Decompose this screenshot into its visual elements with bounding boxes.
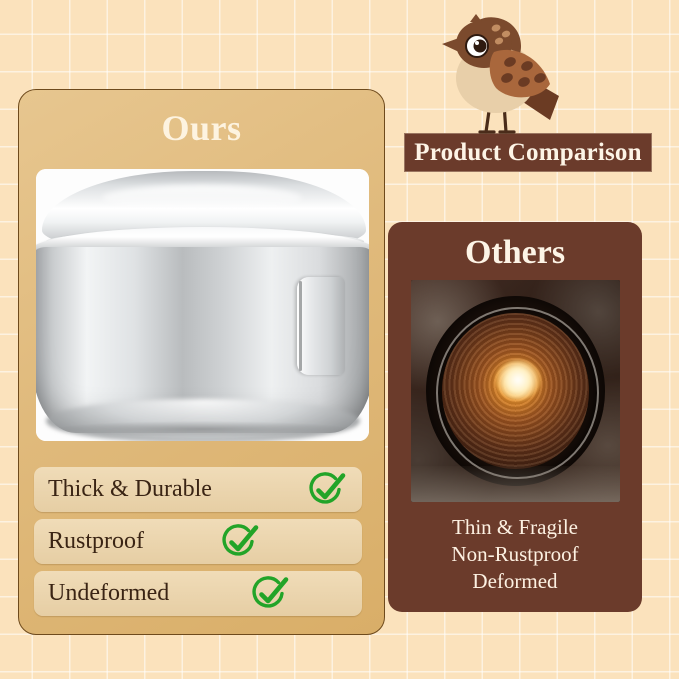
feature-label: Undeformed — [48, 579, 169, 606]
sparrow-bird-icon — [432, 8, 572, 138]
check-circle-icon — [250, 576, 290, 612]
feature-label: Thick & Durable — [48, 475, 212, 502]
others-drawback-list: Thin & Fragile Non-Rustproof Deformed — [388, 514, 642, 595]
others-product-photo — [411, 280, 620, 502]
rust-light-reflection — [495, 360, 541, 400]
feature-label: Rustproof — [48, 527, 144, 554]
others-card: Others Thin & Fragile Non-Rustproof Defo… — [388, 222, 642, 612]
feature-row-rustproof: Rustproof — [34, 519, 362, 564]
feature-row-thick-durable: Thick & Durable — [34, 467, 362, 512]
ours-product-photo — [36, 169, 369, 441]
drawback-item: Non-Rustproof — [388, 541, 642, 568]
drawback-item: Deformed — [388, 568, 642, 595]
ours-card: Ours Thick & Durable Rustproof — [18, 89, 385, 635]
pot-lid-highlight — [102, 185, 302, 211]
pot-shadow — [56, 421, 349, 437]
feature-row-undeformed: Undeformed — [34, 571, 362, 616]
rust-base-edge — [411, 466, 620, 502]
others-title: Others — [388, 236, 642, 270]
rusted-pot-icon — [411, 280, 620, 502]
ours-title: Ours — [19, 110, 384, 146]
check-circle-icon — [220, 524, 260, 560]
banner-title: Product Comparison — [414, 140, 641, 165]
stainless-steel-pot-icon — [36, 169, 369, 441]
check-circle-icon — [307, 472, 347, 508]
product-comparison-banner: Product Comparison — [404, 133, 652, 172]
feature-list: Thick & Durable Rustproof Undeformed — [34, 467, 362, 623]
drawback-item: Thin & Fragile — [388, 514, 642, 541]
pot-handle — [297, 277, 345, 375]
